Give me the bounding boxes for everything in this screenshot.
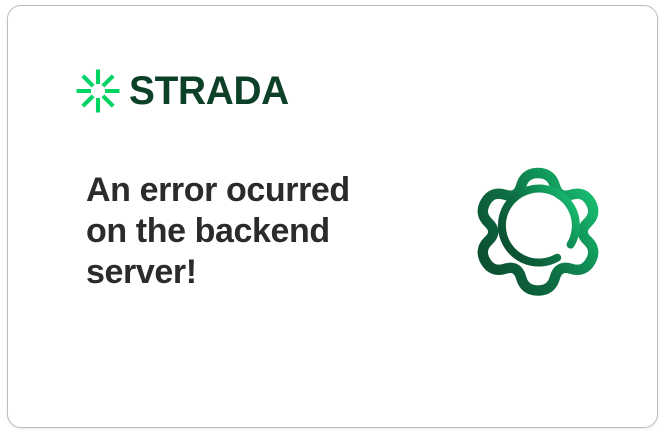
error-message-line: on the backend xyxy=(86,211,386,252)
gear-icon xyxy=(452,139,624,311)
brand-wordmark: STRADA xyxy=(129,71,289,111)
strada-asterisk-icon xyxy=(76,69,120,113)
error-message-line: server! xyxy=(86,252,386,293)
brand-logo: STRADA xyxy=(76,69,294,113)
error-message: An error ocurred on the backend server! xyxy=(86,170,386,293)
error-card: STRADA An error ocurred on the backend s… xyxy=(7,5,658,428)
gear-illustration xyxy=(452,139,624,311)
error-message-line: An error ocurred xyxy=(86,170,386,211)
